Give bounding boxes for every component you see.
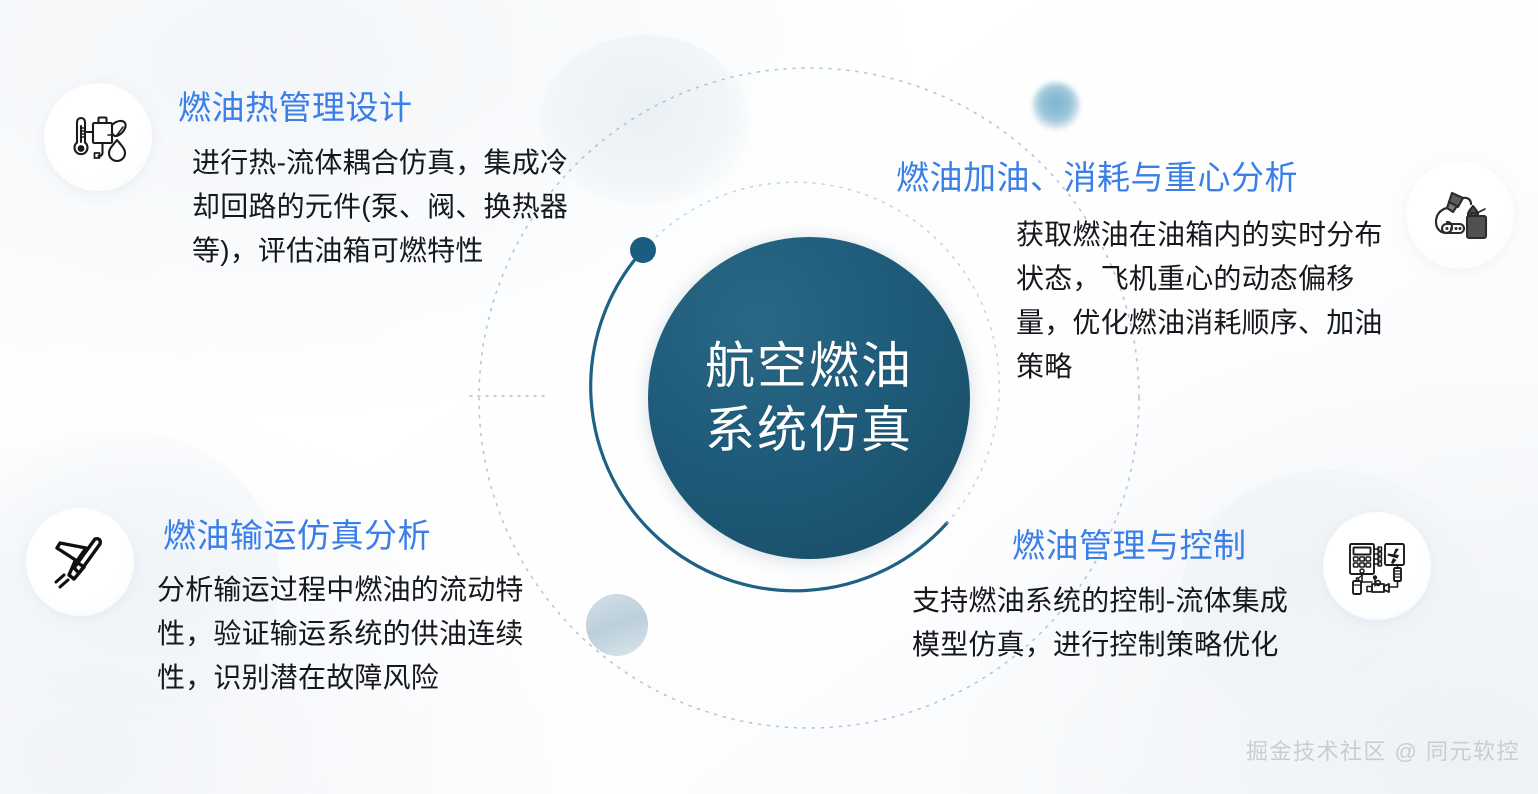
watermark: 掘金技术社区 @ 同元软控 (1246, 734, 1520, 766)
arc-endpoint-dot-icon (630, 237, 656, 263)
block-thermal: 燃油热管理设计 进行热-流体耦合仿真，集成冷却回路的元件(泵、阀、换热器等)，评… (178, 88, 598, 273)
hub-title: 航空燃油 系统仿真 (705, 334, 913, 462)
block-control-title: 燃油管理与控制 (1012, 526, 1408, 566)
airplane-takeoff-icon (27, 509, 133, 615)
block-control: 燃油管理与控制 支持燃油系统的控制-流体集成模型仿真，进行控制策略优化 (1008, 526, 1408, 667)
block-thermal-title: 燃油热管理设计 (178, 88, 598, 128)
block-refuel: 燃油加油、消耗与重心分析 获取燃油在油箱内的实时分布状态，飞机重心的动态偏移量，… (896, 158, 1386, 390)
infographic-canvas: 航空燃油 系统仿真 (0, 0, 1538, 794)
block-refuel-body: 获取燃油在油箱内的实时分布状态，飞机重心的动态偏移量，优化燃油消耗顺序、加油策略 (1016, 213, 1386, 390)
fuel-nozzle-jerrycan-icon (1407, 162, 1513, 268)
block-transfer-title: 燃油输运仿真分析 (163, 516, 583, 556)
accent-bokeh-dot-icon (1032, 82, 1080, 130)
block-transfer: 燃油输运仿真分析 分析输运过程中燃油的流动特性，验证输运系统的供油连续性，识别潜… (163, 516, 583, 700)
thermometer-pump-droplet-icon (45, 84, 151, 190)
block-thermal-body: 进行热-流体耦合仿真，集成冷却回路的元件(泵、阀、换热器等)，评估油箱可燃特性 (192, 141, 588, 274)
block-control-body: 支持燃油系统的控制-流体集成模型仿真，进行控制策略优化 (912, 579, 1312, 667)
accent-gradient-circle-icon (586, 594, 648, 656)
block-refuel-title: 燃油加油、消耗与重心分析 (896, 158, 1386, 198)
block-transfer-body: 分析输运过程中燃油的流动特性，验证输运系统的供油连续性，识别潜在故障风险 (157, 568, 577, 701)
